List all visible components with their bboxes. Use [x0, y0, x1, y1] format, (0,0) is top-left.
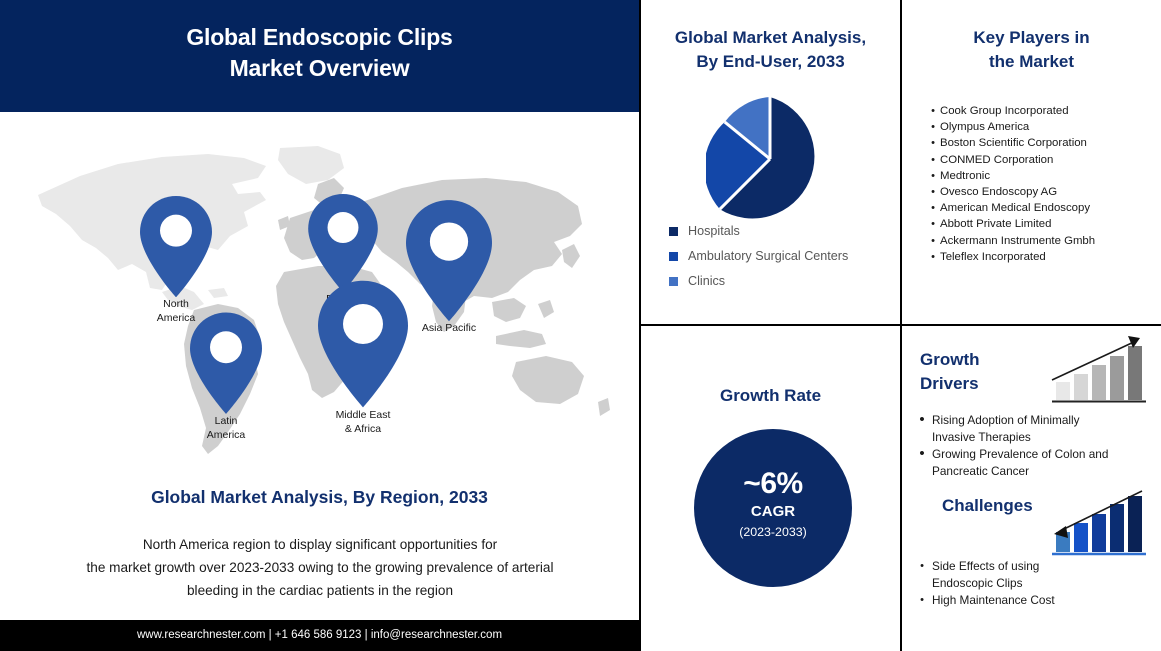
list-item: • Ackermann Instrumente Gmbh [926, 234, 1161, 249]
region-desc-line3: bleeding in the cardiac patients in the … [40, 579, 600, 602]
list-item-line1: Side Effects of using [932, 558, 1147, 575]
footer-contact-text: www.researchnester.com | +1 646 586 9123… [0, 620, 639, 651]
bullet-icon: • [926, 234, 940, 249]
list-item-label: CONMED Corporation [940, 153, 1053, 168]
list-item: • Teleflex Incorporated [926, 250, 1161, 265]
pin-label-line2: & Africa [318, 423, 408, 436]
legend-label: Ambulatory Surgical Centers [688, 249, 848, 263]
legend-swatch-icon [669, 277, 678, 286]
growth-drivers-title-line2: Drivers [920, 372, 980, 396]
list-item-line1: Rising Adoption of Minimally [932, 412, 1147, 429]
bar-2 [1074, 523, 1088, 552]
legend-swatch-icon [669, 227, 678, 236]
legend-swatch-icon [669, 252, 678, 261]
bar-5 [1128, 346, 1142, 400]
pin-label-line1: North [140, 298, 212, 311]
bullet-icon: • [912, 592, 932, 609]
legend-item-clinics: Clinics [669, 274, 900, 288]
list-item-label: Cook Group Incorporated [940, 104, 1069, 119]
list-item-line2: Pancreatic Cancer [932, 463, 1147, 480]
page-title-line1: Global Endoscopic Clips [0, 22, 639, 53]
list-item-label: High Maintenance Cost [932, 592, 1147, 609]
list-item-label: Abbott Private Limited [940, 217, 1051, 232]
page-title: Global Endoscopic Clips Market Overview [0, 22, 639, 84]
map-se-asia [492, 298, 526, 322]
key-players-title-line2: the Market [902, 50, 1161, 74]
pie-title-line2: By End-User, 2033 [641, 50, 900, 74]
challenges-list: • Side Effects of using Endoscopic Clips… [912, 558, 1161, 610]
list-item-label: Growing Prevalence of Colon and Pancreat… [932, 446, 1147, 479]
challenges-title-line1: Challenges [942, 496, 1033, 515]
bullet-icon: • [926, 185, 940, 200]
key-players-section: Key Players in the Market • Cook Group I… [902, 0, 1161, 324]
location-pin-icon [406, 200, 492, 321]
bullet-icon: • [926, 104, 940, 119]
list-item-line2: Endoscopic Clips [932, 575, 1147, 592]
list-item: • CONMED Corporation [926, 153, 1161, 168]
region-section-title: Global Market Analysis, By Region, 2033 [0, 487, 639, 508]
key-players-title: Key Players in the Market [902, 26, 1161, 74]
region-desc-line2: the market growth over 2023-2033 owing t… [40, 556, 600, 579]
map-new-zealand [598, 398, 610, 416]
challenges-down-bar-chart-icon [1050, 486, 1148, 558]
growth-drivers-list: • Rising Adoption of Minimally Invasive … [912, 412, 1161, 480]
left-panel: Global Endoscopic Clips Market Overview [0, 0, 641, 651]
list-item-label: Ovesco Endoscopy AG [940, 185, 1057, 200]
infographic-page: Global Endoscopic Clips Market Overview [0, 0, 1161, 651]
bullet-icon: • [926, 169, 940, 184]
growth-rate-section: Growth Rate ~6% CAGR (2023-2033) [641, 326, 900, 651]
list-item: • American Medical Endoscopy [926, 201, 1161, 216]
legend-label: Hospitals [688, 224, 740, 238]
key-players-list: • Cook Group Incorporated • Olympus Amer… [926, 104, 1161, 266]
map-pin-north-america[interactable]: North America [140, 196, 212, 324]
list-item-label: American Medical Endoscopy [940, 201, 1090, 216]
key-players-title-line1: Key Players in [902, 26, 1161, 50]
bar-1 [1056, 382, 1070, 400]
list-item: • High Maintenance Cost [912, 592, 1161, 609]
cagr-period: (2023-2033) [694, 522, 852, 542]
list-item-line1: High Maintenance Cost [932, 592, 1147, 609]
location-pin-icon [190, 312, 262, 414]
bullet-icon: • [912, 558, 932, 575]
list-item: • Ovesco Endoscopy AG [926, 185, 1161, 200]
cagr-value: ~6% [694, 467, 852, 501]
map-pin-middle-east-africa[interactable]: Middle East & Africa [318, 280, 408, 435]
map-indonesia [496, 330, 546, 348]
pin-label-line1: Asia Pacific [406, 322, 492, 335]
legend-label: Clinics [688, 274, 725, 288]
list-item-label: Boston Scientific Corporation [940, 136, 1087, 151]
list-item-label: Ackermann Instrumente Gmbh [940, 234, 1095, 249]
bullet-icon: • [926, 136, 940, 151]
bar-2 [1074, 374, 1088, 400]
bar-3 [1092, 365, 1106, 400]
page-title-line2: Market Overview [0, 53, 639, 84]
challenges-title: Challenges [942, 494, 1033, 518]
location-pin-icon [308, 194, 378, 292]
list-item-label: Medtronic [940, 169, 990, 184]
growth-drivers-title-line1: Growth [920, 348, 980, 372]
list-item: • Cook Group Incorporated [926, 104, 1161, 119]
location-pin-icon [140, 196, 212, 297]
list-item: • Abbott Private Limited [926, 217, 1161, 232]
map-pin-latin-america[interactable]: Latin America [190, 312, 262, 441]
bar-3 [1092, 514, 1106, 552]
map-japan [562, 244, 580, 268]
list-item: • Olympus America [926, 120, 1161, 135]
bullet-icon: • [926, 120, 940, 135]
cagr-label: CAGR [694, 501, 852, 522]
bar-4 [1110, 356, 1124, 400]
growth-drivers-title: Growth Drivers [920, 348, 980, 396]
list-item: • Boston Scientific Corporation [926, 136, 1161, 151]
world-map: North America Europe Asia Pacific Mi [22, 140, 618, 470]
list-item-line2: Invasive Therapies [932, 429, 1147, 446]
location-pin-icon [318, 280, 408, 408]
end-user-pie-chart [706, 95, 834, 223]
bullet-icon: • [912, 412, 932, 429]
map-pin-asia-pacific[interactable]: Asia Pacific [406, 200, 492, 335]
drivers-and-challenges-section: Growth Drivers • Rising Adoption of Mini… [902, 326, 1161, 651]
list-item: • Medtronic [926, 169, 1161, 184]
map-philippines [538, 300, 554, 318]
list-item-label: Side Effects of using Endoscopic Clips [932, 558, 1147, 591]
legend-item-hospitals: Hospitals [669, 224, 900, 238]
bar-4 [1110, 504, 1124, 552]
bar-5 [1128, 496, 1142, 552]
pin-label-line2: America [190, 429, 262, 442]
list-item: • Growing Prevalence of Colon and Pancre… [912, 446, 1161, 479]
list-item-label: Olympus America [940, 120, 1029, 135]
bullet-icon: • [926, 217, 940, 232]
pie-legend: Hospitals Ambulatory Surgical Centers Cl… [669, 224, 900, 299]
pin-label-line1: Middle East [318, 409, 408, 422]
map-australia [512, 356, 584, 404]
growth-up-bar-chart-icon [1050, 334, 1148, 406]
bullet-icon: • [926, 201, 940, 216]
list-item: • Rising Adoption of Minimally Invasive … [912, 412, 1161, 445]
list-item: • Side Effects of using Endoscopic Clips [912, 558, 1161, 591]
pin-label-line1: Latin [190, 415, 262, 428]
bullet-icon: • [912, 446, 932, 463]
bullet-icon: • [926, 153, 940, 168]
footer-bar: www.researchnester.com | +1 646 586 9123… [0, 620, 639, 651]
region-desc-line1: North America region to display signific… [40, 533, 600, 556]
pie-section-title: Global Market Analysis, By End-User, 203… [641, 26, 900, 74]
list-item-line1: Growing Prevalence of Colon and [932, 446, 1147, 463]
right-panel: Global Market Analysis, By End-User, 203… [641, 0, 1161, 651]
legend-item-ambulatory-surgical-centers: Ambulatory Surgical Centers [669, 249, 900, 263]
growth-rate-badge: ~6% CAGR (2023-2033) [694, 429, 852, 587]
list-item-label: Teleflex Incorporated [940, 250, 1046, 265]
region-section-description: North America region to display signific… [40, 533, 600, 602]
list-item-label: Rising Adoption of Minimally Invasive Th… [932, 412, 1147, 445]
pie-title-line1: Global Market Analysis, [641, 26, 900, 50]
end-user-pie-section: Global Market Analysis, By End-User, 203… [641, 0, 900, 324]
growth-rate-title: Growth Rate [641, 384, 900, 408]
bullet-icon: • [926, 250, 940, 265]
